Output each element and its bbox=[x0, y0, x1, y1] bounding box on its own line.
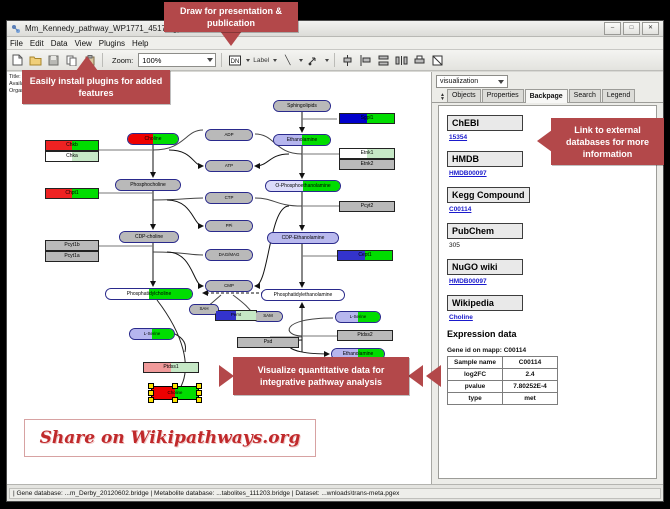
print-icon[interactable] bbox=[412, 53, 427, 68]
gene-id-line: Gene id on mapp: C00114 bbox=[447, 347, 648, 354]
table-row: typemet bbox=[448, 393, 558, 405]
minimize-button[interactable]: – bbox=[604, 22, 621, 35]
callout-draw: Draw for presentation & publication bbox=[164, 2, 298, 32]
chevron-down-icon[interactable] bbox=[325, 59, 329, 62]
visualization-combobox[interactable]: visualization bbox=[436, 75, 508, 88]
menu-item-view[interactable]: View bbox=[75, 39, 92, 48]
node-label: Pcyt1b bbox=[64, 243, 79, 248]
gene-node-pcyt1b[interactable]: Pcyt1b bbox=[45, 240, 99, 251]
selection-handle[interactable] bbox=[172, 397, 178, 403]
gene-node-etnk1[interactable]: Etnk1 bbox=[339, 148, 395, 159]
label-tool-label[interactable]: Label bbox=[253, 57, 269, 64]
node-label: CMP bbox=[224, 284, 234, 288]
callout-plugins-pointer bbox=[76, 56, 98, 71]
node-label: Choline bbox=[168, 391, 183, 395]
callout-link: Link to external databases for more info… bbox=[551, 118, 664, 165]
callout-expression-pointer bbox=[426, 365, 441, 387]
metabolite-node-ctp[interactable]: CTP bbox=[205, 192, 253, 204]
align-left-icon[interactable] bbox=[358, 53, 373, 68]
share-banner: Share on Wikipathways.org bbox=[24, 419, 316, 457]
node-label: CDP-choline bbox=[135, 235, 163, 240]
metabolite-node-phosphocholine[interactable]: Phosphocholine bbox=[115, 179, 181, 191]
menu-item-edit[interactable]: Edit bbox=[30, 39, 44, 48]
node-label: Choline bbox=[145, 137, 162, 142]
metabolite-node-o-phosphoethanolamine[interactable]: O-Phosphoethanolamine bbox=[265, 180, 341, 192]
tab-backpage[interactable]: Backpage bbox=[525, 89, 568, 103]
menu-bar: File Edit Data View Plugins Help bbox=[7, 37, 663, 50]
selection-handle[interactable] bbox=[148, 383, 154, 389]
stack-vertical-icon[interactable] bbox=[376, 53, 391, 68]
zoom-value: 100% bbox=[142, 56, 161, 65]
expression-data-heading: Expression data bbox=[447, 329, 648, 339]
node-label: CTP bbox=[225, 196, 234, 200]
metabolite-node-phosphatidylethanolamine[interactable]: Phosphatidylethanolamine bbox=[261, 289, 345, 301]
db-header-hmdb: HMDB bbox=[447, 151, 523, 167]
callout-link-pointer bbox=[537, 130, 552, 152]
metabolite-node-ppi[interactable]: PPi bbox=[205, 220, 253, 232]
db-header-pubchem: PubChem bbox=[447, 223, 523, 239]
toolbar-separator bbox=[334, 53, 335, 67]
db-header-wikipedia: Wikipedia bbox=[447, 295, 523, 311]
gene-node-psd[interactable]: Psd bbox=[237, 337, 299, 348]
db-link-nugowiki[interactable]: HMDB00097 bbox=[449, 278, 648, 285]
db-value-pubchem: 305 bbox=[449, 242, 648, 249]
expression-row-label: Sample name bbox=[448, 357, 503, 369]
title-bar: Mm_Kennedy_pathway_WP1771_45176.gpml – □… bbox=[7, 21, 663, 37]
node-label: SAM bbox=[263, 314, 273, 318]
metabolite-node-sam[interactable]: SAM bbox=[253, 311, 283, 322]
gene-node-pemt[interactable]: Pemt bbox=[215, 310, 257, 321]
node-label: Etnk1 bbox=[361, 151, 374, 156]
node-label: SAH bbox=[199, 307, 208, 311]
gene-node-sgpl1[interactable]: Sgpl1 bbox=[339, 113, 395, 124]
tab-scroll-buttons[interactable]: ▲▼ bbox=[440, 93, 445, 102]
node-label: PPi bbox=[226, 224, 233, 228]
close-button[interactable]: ✕ bbox=[642, 22, 659, 35]
metabolite-node-l-serine[interactable]: L-Serine bbox=[129, 328, 175, 340]
node-label: Psd bbox=[264, 340, 273, 345]
db-link-kegg[interactable]: C00114 bbox=[449, 206, 648, 213]
table-row: pvalue7.80252E-4 bbox=[448, 381, 558, 393]
screenshot-root: Mm_Kennedy_pathway_WP1771_45176.gpml – □… bbox=[0, 0, 670, 509]
visualization-row: visualization bbox=[432, 72, 663, 89]
node-label: Chpt1 bbox=[65, 191, 78, 196]
gene-node-cept1[interactable]: Cept1 bbox=[337, 250, 393, 261]
open-folder-icon[interactable] bbox=[28, 53, 43, 68]
selection-handle[interactable] bbox=[196, 390, 202, 396]
gene-node-chka[interactable]: Chka bbox=[45, 151, 99, 162]
node-label: ATP bbox=[225, 164, 233, 168]
side-panel-tabs: ▲▼ Objects Properties Backpage Search Le… bbox=[432, 89, 663, 103]
node-label: ADP bbox=[224, 133, 233, 137]
node-label: Chkb bbox=[66, 143, 78, 148]
metabolite-node-l-serine[interactable]: L-Serine bbox=[335, 311, 381, 323]
align-center-icon[interactable] bbox=[340, 53, 355, 68]
maximize-button[interactable]: □ bbox=[623, 22, 640, 35]
gene-node-etnk2[interactable]: Etnk2 bbox=[339, 159, 395, 170]
node-label: Phosphatidylethanolamine bbox=[274, 293, 333, 298]
metabolite-node-cdp-ethanolamine[interactable]: CDP-Ethanolamine bbox=[267, 232, 339, 244]
db-link-wikipedia[interactable]: Choline bbox=[449, 314, 648, 321]
tab-search[interactable]: Search bbox=[569, 89, 601, 102]
tab-objects[interactable]: Objects bbox=[447, 89, 481, 102]
node-label: Etnk2 bbox=[361, 162, 374, 167]
zoom-label: Zoom: bbox=[112, 56, 133, 65]
metabolite-node-cdp-choline[interactable]: CDP-choline bbox=[119, 231, 179, 243]
callout-plugins: Easily install plugins for added feature… bbox=[22, 70, 170, 104]
chevron-down-icon bbox=[207, 58, 213, 62]
selection-handle[interactable] bbox=[196, 383, 202, 389]
chevron-down-icon[interactable] bbox=[273, 59, 277, 62]
gene-node-pcyt1a[interactable]: Pcyt1a bbox=[45, 251, 99, 262]
table-row: log2FC2.4 bbox=[448, 369, 558, 381]
toolbar-separator bbox=[102, 53, 103, 67]
node-fill-right bbox=[229, 221, 252, 231]
metabolite-node-sphingolipids[interactable]: Sphingolipids bbox=[273, 100, 331, 112]
expression-row-value: 7.80252E-4 bbox=[503, 381, 558, 393]
line-tool-icon[interactable]: ╲ bbox=[280, 53, 295, 68]
callout-visualize-pointer bbox=[219, 365, 234, 387]
metabolite-node-ethanolamine[interactable]: Ethanolamine bbox=[273, 134, 331, 146]
node-label: Sphingolipids bbox=[287, 104, 317, 109]
chevron-down-icon: ▼ bbox=[440, 97, 445, 101]
node-label: DAG/MAG bbox=[219, 253, 240, 257]
node-label: L-Serine bbox=[350, 315, 367, 319]
status-bar: | Gene database: ...m_Derby_20120602.bri… bbox=[7, 484, 663, 501]
chevron-down-icon bbox=[498, 80, 504, 84]
gene-node-ptdss2[interactable]: Ptdss2 bbox=[337, 330, 393, 341]
window-buttons: – □ ✕ bbox=[604, 22, 659, 35]
expression-row-value: 2.4 bbox=[503, 369, 558, 381]
expression-table: Sample nameC00114log2FC2.4pvalue7.80252E… bbox=[447, 356, 558, 405]
metabolite-node-sah[interactable]: SAH bbox=[189, 304, 219, 315]
expression-row-label: log2FC bbox=[448, 369, 503, 381]
distribute-icon[interactable] bbox=[394, 53, 409, 68]
metabolite-node-cmp[interactable]: CMP bbox=[205, 280, 253, 292]
tab-properties[interactable]: Properties bbox=[482, 89, 524, 102]
node-label: Phosphocholine bbox=[130, 183, 166, 188]
gene-node-ptdss1[interactable]: Ptdss1 bbox=[143, 362, 199, 373]
node-label: Pcyt2 bbox=[361, 204, 374, 209]
metabolite-node-choline[interactable]: Choline bbox=[127, 133, 179, 145]
selection-handle[interactable] bbox=[172, 383, 178, 389]
db-header-nugowiki: NuGO wiki bbox=[447, 259, 523, 275]
metabolite-node-adp[interactable]: ADP bbox=[205, 129, 253, 141]
metabolite-node-atp[interactable]: ATP bbox=[205, 160, 253, 172]
gene-node-chpt1[interactable]: Chpt1 bbox=[45, 188, 99, 199]
gene-node-pcyt2[interactable]: Pcyt2 bbox=[339, 201, 395, 212]
new-file-icon[interactable] bbox=[10, 53, 25, 68]
callout-visualize: Visualize quantitative data for integrat… bbox=[233, 357, 409, 395]
selection-handle[interactable] bbox=[148, 390, 154, 396]
menu-item-data[interactable]: Data bbox=[51, 39, 68, 48]
svg-text:DN: DN bbox=[230, 59, 239, 65]
metabolite-node-dag-mag[interactable]: DAG/MAG bbox=[205, 249, 253, 261]
node-label: Ptdss2 bbox=[357, 333, 372, 338]
db-link-hmdb[interactable]: HMDB00097 bbox=[449, 170, 648, 177]
status-text: | Gene database: ...m_Derby_20120602.bri… bbox=[9, 488, 661, 499]
tab-legend[interactable]: Legend bbox=[602, 89, 635, 102]
node-label: Phosphatidylcholine bbox=[127, 292, 171, 297]
node-label: Ptdss1 bbox=[163, 365, 178, 370]
zoom-combobox[interactable]: 100% bbox=[138, 53, 216, 67]
menu-item-plugins[interactable]: Plugins bbox=[99, 39, 125, 48]
callout-visualize-pointer-right bbox=[408, 365, 423, 387]
datanode-tool-icon[interactable]: DN bbox=[227, 53, 242, 68]
selection-handle[interactable] bbox=[196, 397, 202, 403]
node-label: Sgpl1 bbox=[361, 116, 374, 121]
menu-item-help[interactable]: Help bbox=[132, 39, 148, 48]
node-label: L-Serine bbox=[144, 332, 161, 336]
zoom-tool-icon[interactable] bbox=[430, 53, 445, 68]
node-label: Ethanolamine bbox=[343, 352, 374, 357]
node-label: Chka bbox=[66, 154, 78, 159]
db-header-kegg: Kegg Compound bbox=[447, 187, 530, 203]
expression-row-value: C00114 bbox=[503, 357, 558, 369]
visualization-value: visualization bbox=[440, 78, 478, 85]
db-header-chebi: ChEBI bbox=[447, 115, 523, 131]
expression-row-value: met bbox=[503, 393, 558, 405]
node-label: Ethanolamine bbox=[287, 138, 318, 143]
app-icon bbox=[11, 24, 21, 34]
toolbar-separator bbox=[221, 53, 222, 67]
table-row: Sample nameC00114 bbox=[448, 357, 558, 369]
node-label: CDP-Ethanolamine bbox=[282, 236, 325, 241]
node-fill-right bbox=[268, 338, 298, 347]
interaction-tool-icon[interactable] bbox=[306, 53, 321, 68]
expression-row-label: pvalue bbox=[448, 381, 503, 393]
save-icon[interactable] bbox=[46, 53, 61, 68]
chevron-down-icon[interactable] bbox=[299, 59, 303, 62]
menu-item-file[interactable]: File bbox=[10, 39, 23, 48]
chevron-down-icon[interactable] bbox=[246, 59, 250, 62]
node-label: Pemt bbox=[231, 313, 241, 317]
selection-handle[interactable] bbox=[148, 397, 154, 403]
callout-draw-pointer bbox=[220, 31, 242, 46]
expression-row-label: type bbox=[448, 393, 503, 405]
node-label: Pcyt1a bbox=[64, 254, 79, 259]
metabolite-node-phosphatidylcholine[interactable]: Phosphatidylcholine bbox=[105, 288, 193, 300]
node-label: O-Phosphoethanolamine bbox=[275, 184, 330, 189]
toolbar: Zoom: 100% DN Label ╲ bbox=[7, 50, 663, 71]
gene-node-chkb[interactable]: Chkb bbox=[45, 140, 99, 151]
share-banner-text: Share on Wikipathways.org bbox=[40, 428, 301, 448]
node-label: Cept1 bbox=[358, 253, 371, 258]
